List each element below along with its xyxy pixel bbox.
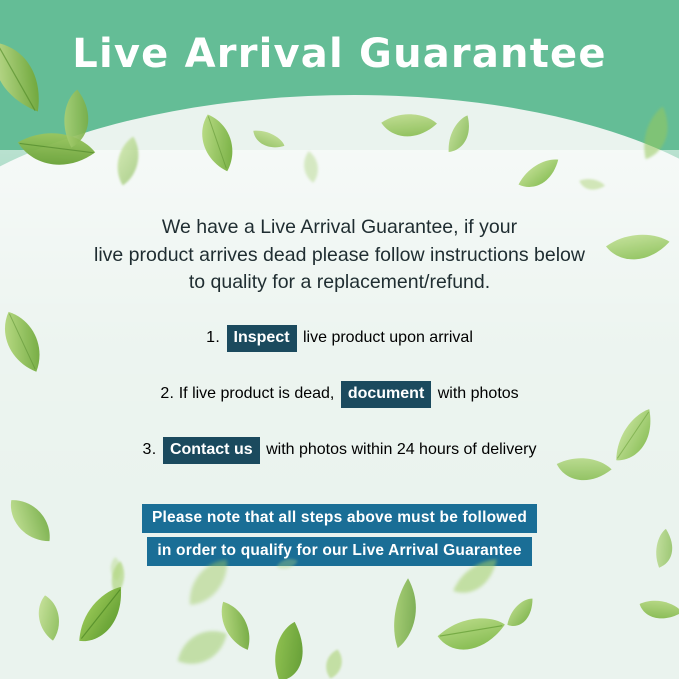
step-number: 2. — [160, 385, 174, 402]
step-item-2: 2. If live product is dead, document wit… — [0, 381, 679, 408]
step-number: 3. — [143, 441, 157, 458]
live-arrival-guarantee-poster: Live Arrival Guarantee We have a Live Ar… — [0, 0, 679, 679]
step-number: 1. — [206, 329, 220, 346]
step-text-after: with photos — [438, 385, 519, 402]
intro-line-3: to quality for a replacement/refund. — [40, 269, 639, 297]
note-row-1: Please note that all steps above must be… — [0, 504, 679, 533]
step-text-after: with photos within 24 hours of delivery — [266, 441, 536, 458]
intro-line-1: We have a Live Arrival Guarantee, if you… — [40, 214, 639, 242]
leaf-icon — [107, 555, 125, 582]
step-highlight-document[interactable]: document — [341, 381, 431, 408]
intro-paragraph: We have a Live Arrival Guarantee, if you… — [40, 214, 639, 297]
note-bar-line-1: Please note that all steps above must be… — [142, 504, 537, 533]
step-item-1: 1. Inspect live product upon arrival — [0, 325, 679, 352]
intro-line-2: live product arrives dead please follow … — [40, 242, 639, 270]
step-highlight-contact-us[interactable]: Contact us — [163, 437, 260, 464]
step-text-before: If live product is dead, — [179, 385, 335, 402]
note-row-2: in order to qualify for our Live Arrival… — [0, 537, 679, 566]
step-text-after: live product upon arrival — [303, 329, 473, 346]
content-area: We have a Live Arrival Guarantee, if you… — [0, 0, 679, 679]
step-highlight-inspect[interactable]: Inspect — [227, 325, 297, 352]
